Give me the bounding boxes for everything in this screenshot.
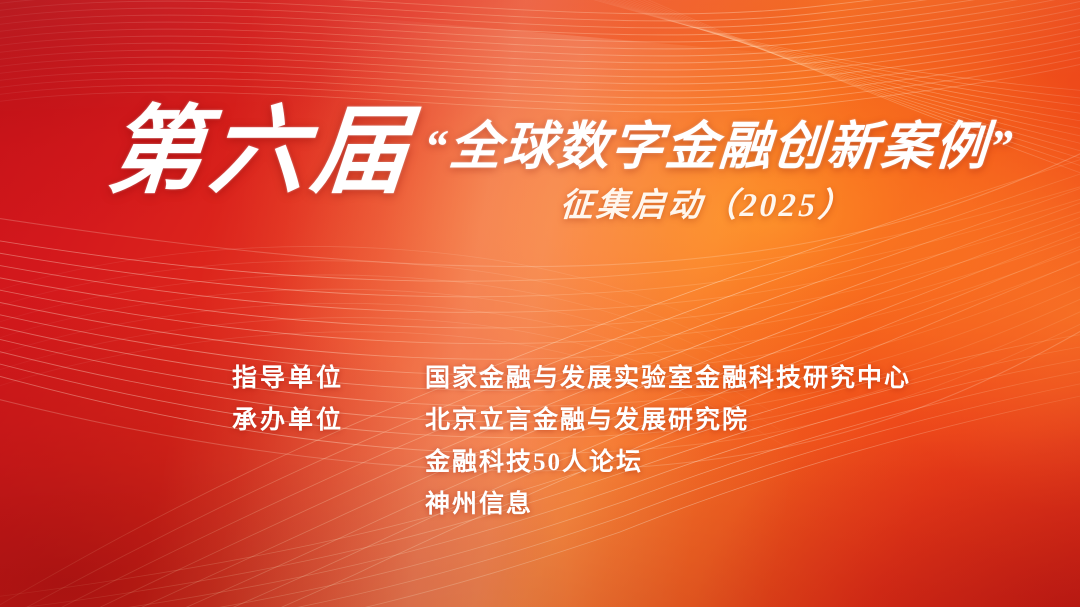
page-title-quoted: “全球数字金融创新案例”: [422, 122, 1016, 174]
credit-row: 指导单位 国家金融与发展实验室金融科技研究中心: [232, 358, 911, 400]
credit-label: 承办单位: [232, 400, 425, 436]
credit-row: 金融科技50人论坛: [232, 442, 911, 484]
credit-value: 国家金融与发展实验室金融科技研究中心: [425, 358, 911, 394]
credit-row: 承办单位 北京立言金融与发展研究院: [232, 400, 911, 442]
poster-content: 第六届 “全球数字金融创新案例” 征集启动（2025） 指导单位 国家金融与发展…: [0, 0, 1080, 607]
page-title-quoted-text: 全球数字金融创新案例: [447, 119, 991, 176]
poster-canvas: 第六届 “全球数字金融创新案例” 征集启动（2025） 指导单位 国家金融与发展…: [0, 0, 1080, 607]
quote-close-mark: ”: [987, 120, 1016, 171]
quote-open-mark: “: [422, 120, 451, 171]
page-title-main: 第六届: [104, 104, 418, 200]
credit-value: 金融科技50人论坛: [425, 442, 643, 478]
credit-value: 北京立言金融与发展研究院: [425, 400, 749, 436]
credits-block: 指导单位 国家金融与发展实验室金融科技研究中心 承办单位 北京立言金融与发展研究…: [232, 358, 911, 526]
credit-value: 神州信息: [425, 484, 533, 520]
credit-label: 指导单位: [232, 358, 425, 394]
credit-row: 神州信息: [232, 484, 911, 526]
page-subtitle: 征集启动（2025）: [559, 190, 855, 223]
